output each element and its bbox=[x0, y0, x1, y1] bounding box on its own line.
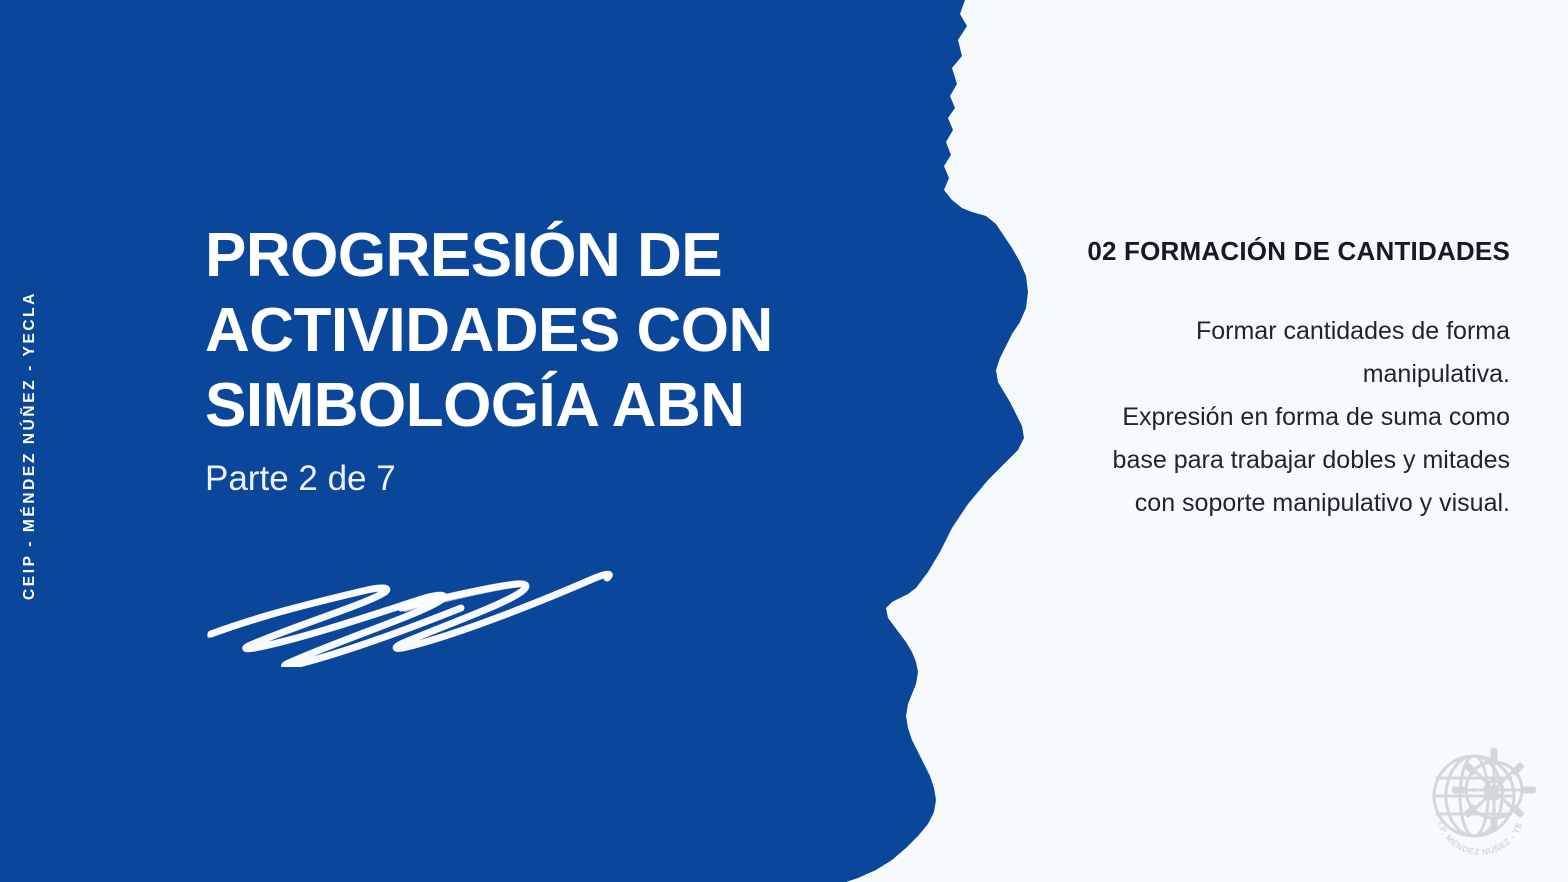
title-block: PROGRESIÓN DE ACTIVIDADES CON SIMBOLOGÍA… bbox=[205, 218, 925, 499]
body-line: con soporte manipulativo y visual. bbox=[1040, 482, 1510, 525]
slide-canvas: CEIP - MÉNDEZ NÚÑEZ - YECLA PROGRESIÓN D… bbox=[0, 0, 1568, 882]
page-title: PROGRESIÓN DE ACTIVIDADES CON SIMBOLOGÍA… bbox=[205, 218, 925, 443]
section-heading: 02 FORMACIÓN DE CANTIDADES bbox=[1040, 234, 1510, 268]
page-subtitle: Parte 2 de 7 bbox=[205, 459, 925, 499]
school-logo: C.E.I.P. MÉNDEZ NÚÑEZ - YECLA bbox=[1418, 738, 1544, 856]
scribble-underline-icon bbox=[195, 552, 635, 667]
body-line: manipulativa. bbox=[1040, 353, 1510, 396]
body-line: Expresión en forma de suma como bbox=[1040, 396, 1510, 439]
body-line: Formar cantidades de forma bbox=[1040, 310, 1510, 353]
section-body: Formar cantidades de forma manipulativa.… bbox=[1040, 310, 1510, 525]
body-line: base para trabajar dobles y mitades bbox=[1040, 439, 1510, 482]
